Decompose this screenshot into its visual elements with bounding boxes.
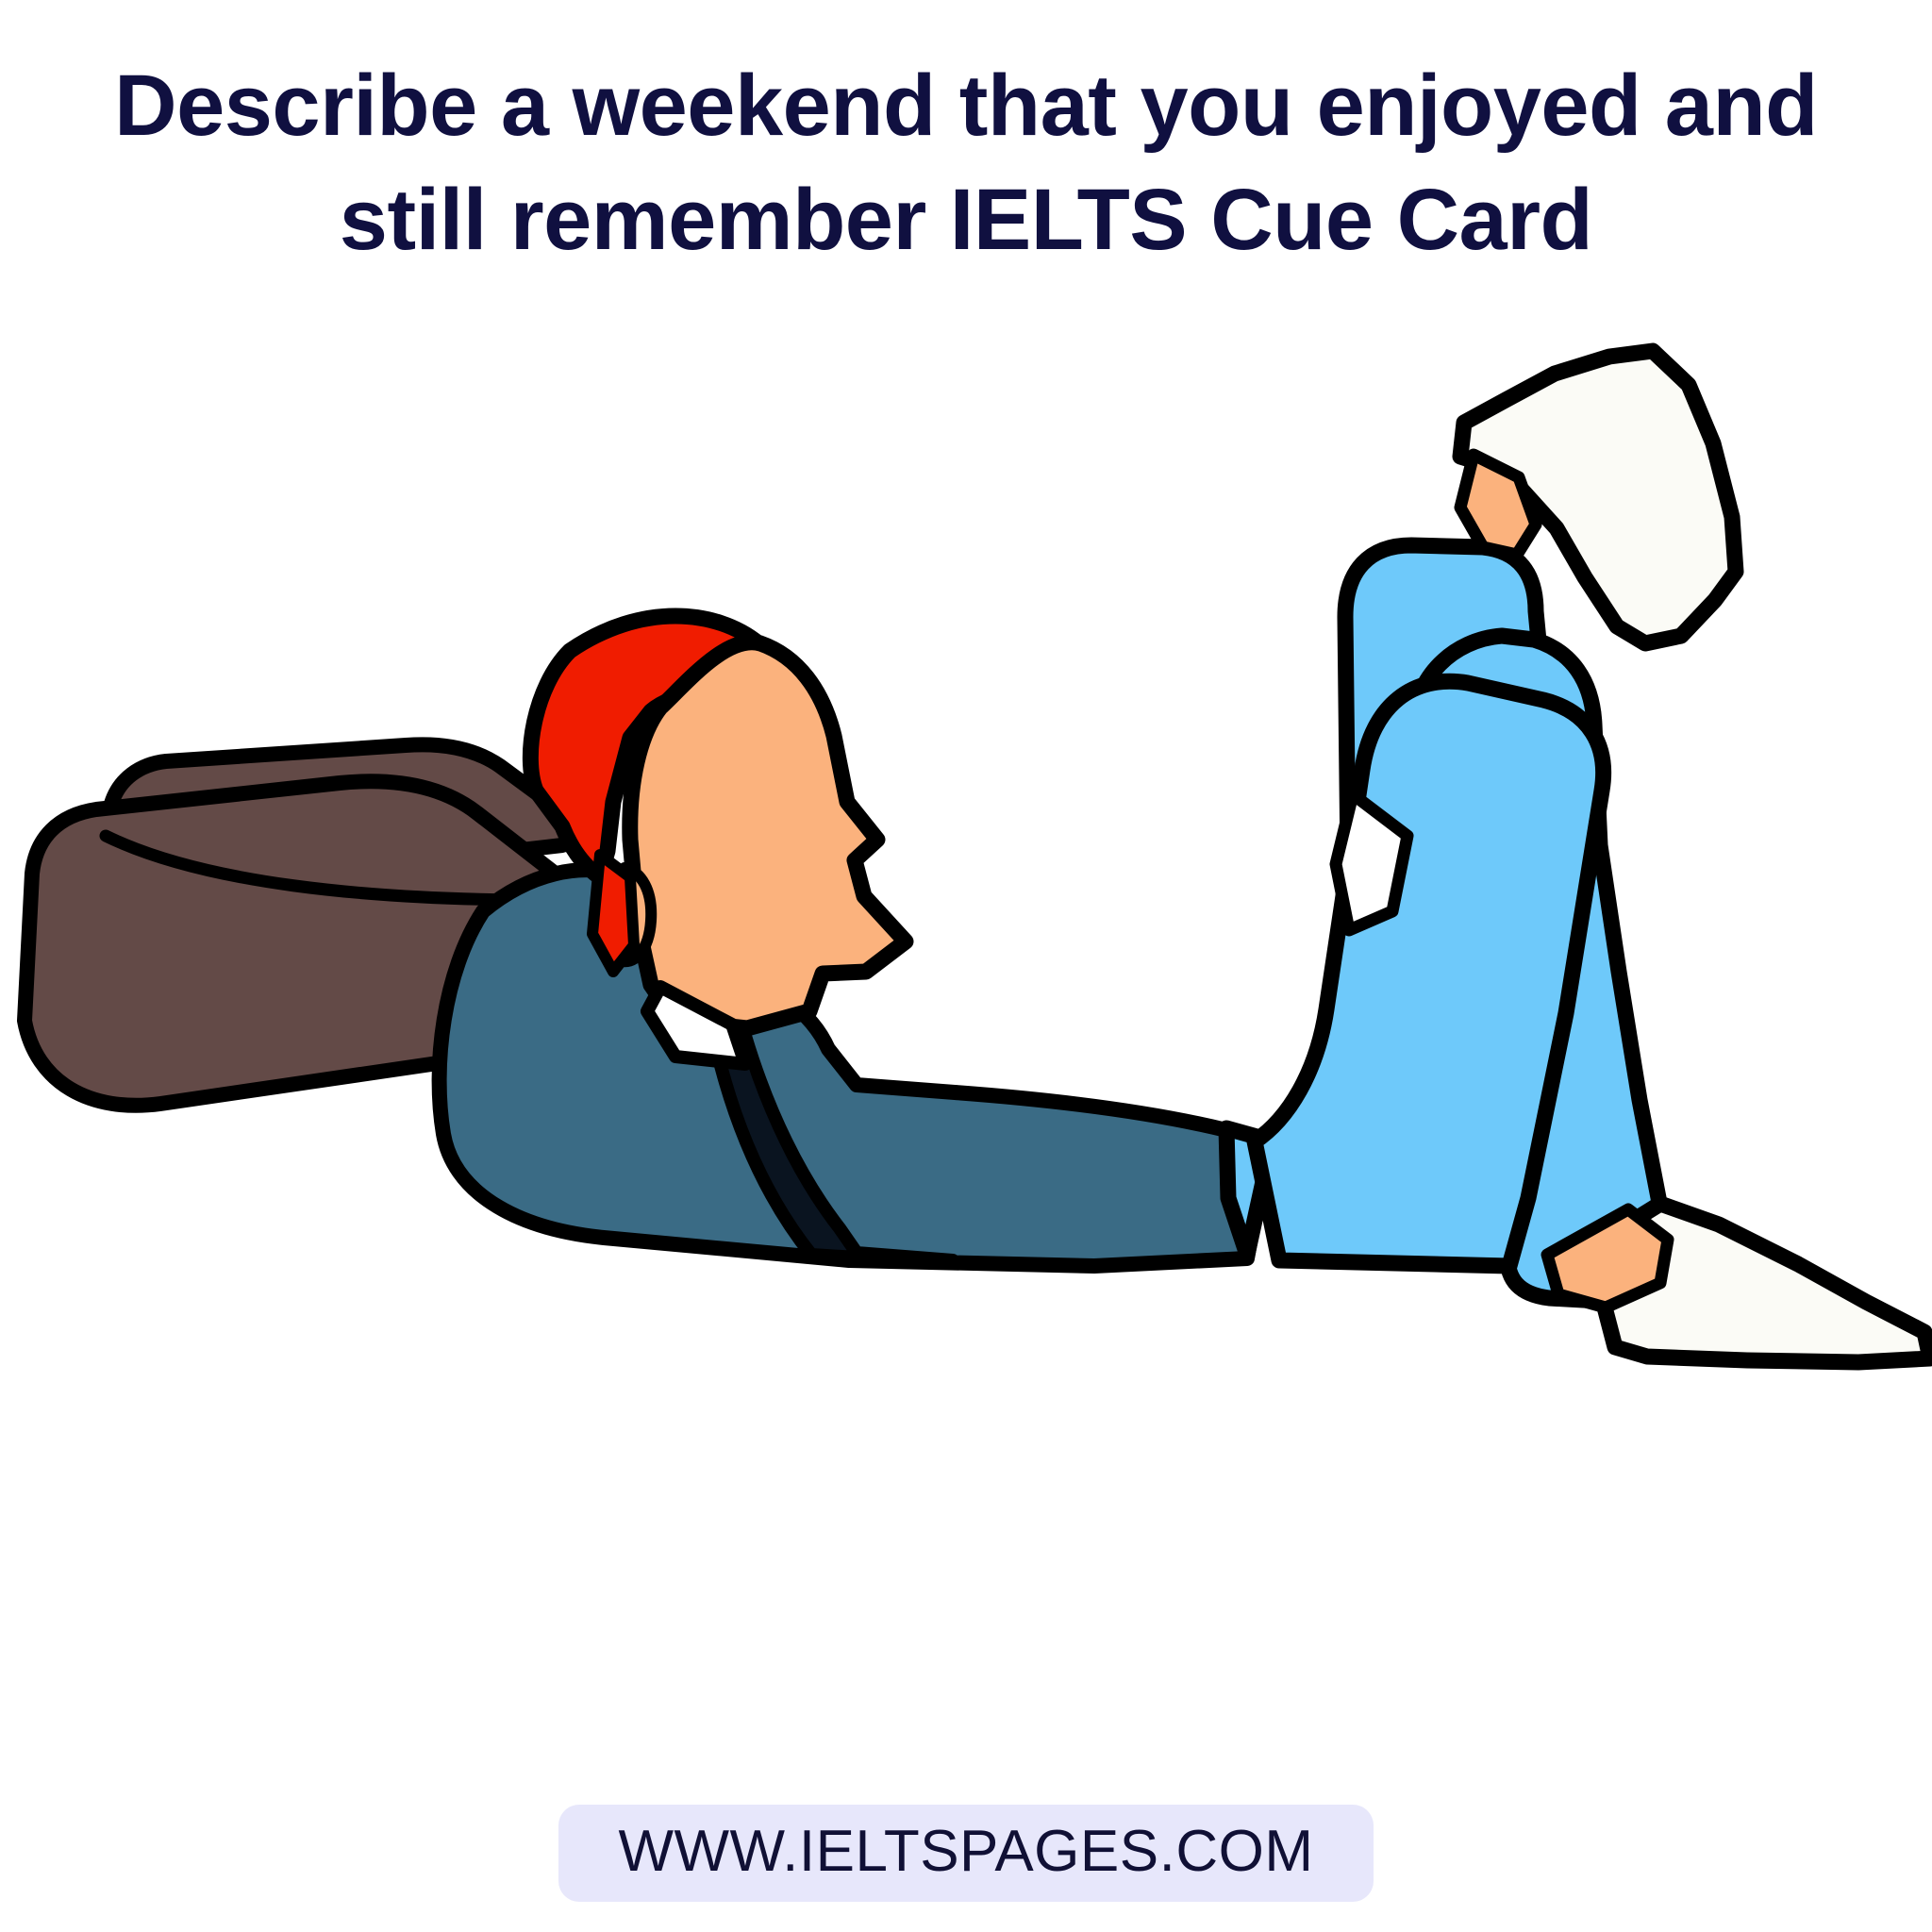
illustration-svg (0, 311, 1932, 1462)
site-url-text: WWW.IELTSPAGES.COM (619, 1819, 1314, 1884)
head (630, 642, 906, 1028)
footer: WWW.IELTSPAGES.COM (0, 1805, 1932, 1902)
page-root: Describe a weekend that you enjoyed and … (0, 0, 1932, 1932)
page-title: Describe a weekend that you enjoyed and … (0, 49, 1932, 278)
legs-group (1226, 545, 1666, 1302)
page-title-text: Describe a weekend that you enjoyed and … (66, 49, 1866, 278)
site-url-badge[interactable]: WWW.IELTSPAGES.COM (558, 1805, 1374, 1902)
hair-sideburn (592, 855, 634, 972)
illustration-relaxing-man (0, 311, 1932, 1462)
